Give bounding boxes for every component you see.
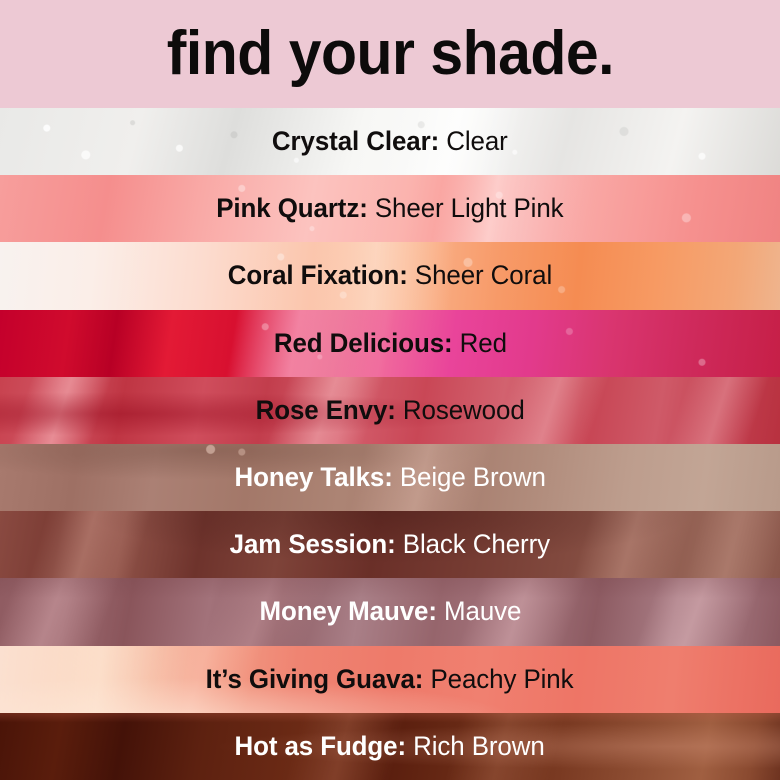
- shade-row-pink-quartz[interactable]: Pink Quartz: Sheer Light Pink: [0, 175, 780, 242]
- shade-row-jam-session[interactable]: Jam Session: Black Cherry: [0, 511, 780, 578]
- shade-name: Hot as Fudge:: [235, 731, 407, 761]
- shade-row-money-mauve[interactable]: Money Mauve: Mauve: [0, 578, 780, 645]
- shade-description: Peachy Pink: [431, 664, 574, 694]
- shade-description: Clear: [446, 126, 507, 156]
- shade-description: Beige Brown: [400, 462, 546, 492]
- shade-description: Rosewood: [403, 395, 525, 425]
- shade-row-honey-talks[interactable]: Honey Talks: Beige Brown: [0, 444, 780, 511]
- shade-description: Mauve: [444, 596, 521, 626]
- shade-row-crystal-clear[interactable]: Crystal Clear: Clear: [0, 108, 780, 175]
- shade-label: Money Mauve: Mauve: [259, 598, 521, 625]
- shade-name: It’s Giving Guava:: [206, 664, 424, 694]
- shade-name: Red Delicious:: [273, 328, 452, 358]
- shade-description: Black Cherry: [403, 529, 550, 559]
- shade-label: Pink Quartz: Sheer Light Pink: [216, 195, 563, 222]
- shade-description: Sheer Light Pink: [375, 193, 564, 223]
- shade-label: It’s Giving Guava: Peachy Pink: [206, 666, 574, 693]
- shade-row-rose-envy[interactable]: Rose Envy: Rosewood: [0, 377, 780, 444]
- shade-name: Money Mauve:: [259, 596, 436, 626]
- shade-row-its-giving-guava[interactable]: It’s Giving Guava: Peachy Pink: [0, 646, 780, 713]
- shade-row-red-delicious[interactable]: Red Delicious: Red: [0, 310, 780, 377]
- shade-label: Hot as Fudge: Rich Brown: [235, 733, 545, 760]
- shade-label: Honey Talks: Beige Brown: [234, 464, 545, 491]
- shade-name: Pink Quartz:: [216, 193, 368, 223]
- shade-row-hot-as-fudge[interactable]: Hot as Fudge: Rich Brown: [0, 713, 780, 780]
- shade-row-coral-fixation[interactable]: Coral Fixation: Sheer Coral: [0, 242, 780, 309]
- shade-description: Sheer Coral: [415, 260, 552, 290]
- shade-description: Red: [459, 328, 506, 358]
- shade-name: Rose Envy:: [255, 395, 395, 425]
- shade-list: Crystal Clear: Clear Pink Quartz: Sheer …: [0, 108, 780, 780]
- shade-name: Jam Session:: [230, 529, 396, 559]
- find-your-shade-poster: find your shade. Crystal Clear: Clear Pi…: [0, 0, 780, 780]
- shade-label: Jam Session: Black Cherry: [230, 531, 550, 558]
- shade-label: Coral Fixation: Sheer Coral: [228, 262, 552, 289]
- poster-header: find your shade.: [0, 0, 780, 108]
- shade-description: Rich Brown: [414, 731, 546, 761]
- shade-label: Red Delicious: Red: [273, 330, 506, 357]
- shade-label: Rose Envy: Rosewood: [255, 397, 524, 424]
- shade-label: Crystal Clear: Clear: [272, 128, 508, 155]
- shade-name: Coral Fixation:: [228, 260, 408, 290]
- page-title: find your shade.: [166, 23, 613, 85]
- shade-name: Honey Talks:: [234, 462, 392, 492]
- shade-name: Crystal Clear:: [272, 126, 439, 156]
